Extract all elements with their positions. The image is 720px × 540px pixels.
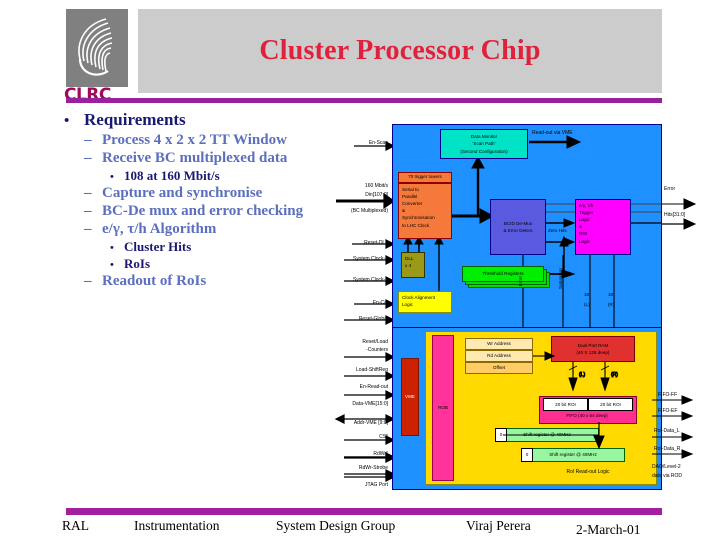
signal-label-daq-note-2: data via ROD (652, 473, 682, 479)
list-item-label: Receive BC multiplexed data (102, 150, 287, 167)
signal-label-din-note: (BC Multiplexed) (326, 208, 388, 214)
list-item-label: Cluster Hits (124, 239, 191, 255)
vlabel-roi-r-width: 18 (608, 292, 613, 297)
block-trigger-and-roi-logic: e/γ, τ/h Trigger Logic & ROI Logic (575, 199, 631, 255)
signal-label-roi-data-l: RoI-Data_L (654, 428, 680, 434)
signal-label-load-shiftreg: Load-ShiftReg (326, 367, 388, 373)
sp-line-6: to LHC Clock (402, 222, 435, 229)
footer-date: 2-March-01 (576, 522, 640, 538)
bullet-marker: – (84, 185, 102, 202)
title-banner: Cluster Processor Chip (138, 9, 662, 93)
tl-line-6: Logic (579, 238, 593, 245)
clrc-swirl-logo (66, 9, 128, 87)
bullet-marker: – (84, 132, 102, 149)
ca-line-1: Clock Alignment (402, 294, 435, 301)
bullet-marker: – (84, 203, 102, 220)
tl-line-4: & (579, 223, 593, 230)
signal-label-din-bus: Din[107:0] (330, 192, 388, 198)
signal-label-system-clock-1: System Clock-1 (326, 256, 388, 262)
bcid-line-2: & Error Detect (503, 227, 532, 234)
bullet-marker: • (110, 259, 124, 271)
footer-dept: Instrumentation (134, 518, 219, 534)
signal-label-hits-out: Hits[31:0] (664, 212, 685, 218)
sp-line-4: & (402, 207, 435, 214)
footer-group: System Design Group (276, 518, 395, 534)
bullet-marker: • (110, 171, 124, 183)
cluster-processor-block-diagram: Data Monitor 'Scan Path' (Second Configu… (392, 124, 662, 490)
block-data-monitor: Data Monitor 'Scan Path' (Second Configu… (440, 129, 528, 159)
bcid-line-1: BCID De-Mux (503, 220, 532, 227)
block-threshold-registers: Threshold Registers (462, 266, 544, 282)
signal-label-roi-data-r: RoI-Data_R (654, 446, 680, 452)
signal-label-en-read-out: En-Read-out (328, 384, 388, 390)
block-clock-alignment-logic: Clock Alignment Logic (398, 291, 452, 313)
bullet-marker: • (64, 114, 84, 129)
vlabel-saturation-bus: Saturation (558, 268, 563, 289)
lower-wires: (L) (R) (393, 328, 663, 490)
tl-line-2: Trigger (579, 209, 593, 216)
dll-line-1: DLL (405, 255, 413, 262)
signal-label-fifo-ff: FIFO-FF (658, 392, 677, 398)
output-arrows-upper (662, 190, 720, 230)
signal-label-daq-note-1: DAQ/Level-2 (652, 464, 681, 470)
list-item-label: 108 at 160 Mbit/s (124, 168, 220, 184)
svg-text:(L): (L) (579, 372, 585, 378)
sp-line-3: Converter (402, 200, 435, 207)
signal-label-fifo-ef: FIFO-EF (658, 408, 677, 414)
signal-label-en-scan: En-Scan (338, 140, 388, 146)
vlabel-error-bus: Error (518, 276, 523, 286)
trigger-towers-label: 70 trigger towers (405, 172, 445, 183)
signal-label-error-out: Error (664, 186, 675, 192)
list-item-label: RoIs (124, 256, 150, 272)
signal-label-jtag-port: JTAG Port (332, 482, 388, 488)
vlabel-roi-l-width: 18 (584, 292, 589, 297)
signal-label-reset-global: Reset-Global (330, 316, 388, 322)
signal-label-data-vme: Data-VME[15:0] (324, 401, 388, 407)
signal-label-counters: -Counters (330, 347, 388, 353)
label-zero-hits: Zero Hits (548, 228, 567, 233)
bullet-marker: – (84, 273, 102, 290)
clrc-logo-box (66, 9, 128, 87)
signal-label-reset-dll: Reset-DLL (334, 240, 388, 246)
footer-author: Viraj Perera (466, 518, 531, 534)
signal-label-reset-load-counters: Reset/Load (330, 339, 388, 345)
block-dll: DLL x 4 (401, 252, 425, 278)
block-trigger-towers: 70 trigger towers (398, 172, 452, 183)
signal-label-rdwr-strobe: RdWr-Strobe (326, 465, 388, 471)
tl-line-3: Logic (579, 216, 593, 223)
tl-line-1: e/γ, τ/h (579, 202, 593, 209)
block-serial-to-parallel: Serial to Parallel Converter & Synchroni… (398, 183, 452, 239)
footer-divider (66, 508, 662, 515)
tl-line-5: ROI (579, 230, 593, 237)
chip-lower-region: VME ROB Wr Address Rd Address Offset Dua… (392, 328, 662, 490)
bullet-marker: – (84, 221, 102, 238)
list-item-label: BC-De mux and error checking (102, 203, 303, 220)
signal-label-addr-vme: Addr-VME [9:0] (324, 420, 388, 426)
signal-label-cs: CS* (336, 434, 388, 440)
list-item-label: Readout of RoIs (102, 273, 206, 290)
footer-org: RAL (62, 518, 89, 534)
sp-line-5: Synchronisation (402, 214, 435, 221)
vlabel-roi-l-side: (L) (584, 302, 590, 307)
ca-line-2: Logic (402, 301, 435, 308)
header-divider (66, 98, 662, 103)
dll-line-2: x 4 (405, 262, 413, 269)
signal-label-en-cal: En-Cal (334, 300, 388, 306)
svg-text:(R): (R) (611, 372, 618, 378)
signal-label-system-clock-2: System Clock-2 (326, 277, 388, 283)
page-title: Cluster Processor Chip (138, 9, 662, 93)
vlabel-roi-r-side: (R) (608, 302, 614, 307)
list-item-label: e/γ, τ/h Algorithm (102, 221, 216, 238)
data-monitor-line-3: (Second Configuration) (460, 148, 507, 155)
block-bcid-demux: BCID De-Mux & Error Detect (490, 199, 546, 255)
data-monitor-line-1: Data Monitor (460, 133, 507, 140)
list-item-label: Process 4 x 2 x 2 TT Window (102, 132, 287, 149)
bullet-marker: – (84, 150, 102, 167)
data-monitor-line-2: 'Scan Path' (460, 140, 507, 147)
list-item-label: Capture and synchronise (102, 185, 262, 202)
label-readout-via-vme: Read-out via VME (532, 130, 573, 136)
list-item-label: Requirements (84, 110, 186, 130)
bullet-marker: • (110, 242, 124, 254)
sp-line-1: Serial to (402, 186, 435, 193)
signal-label-rdwr: RdWr* (334, 451, 388, 457)
sp-line-2: Parallel (402, 193, 435, 200)
footer: RAL Instrumentation System Design Group … (0, 516, 720, 540)
signal-label-din-rate: 160 Mbit/s (330, 183, 388, 189)
